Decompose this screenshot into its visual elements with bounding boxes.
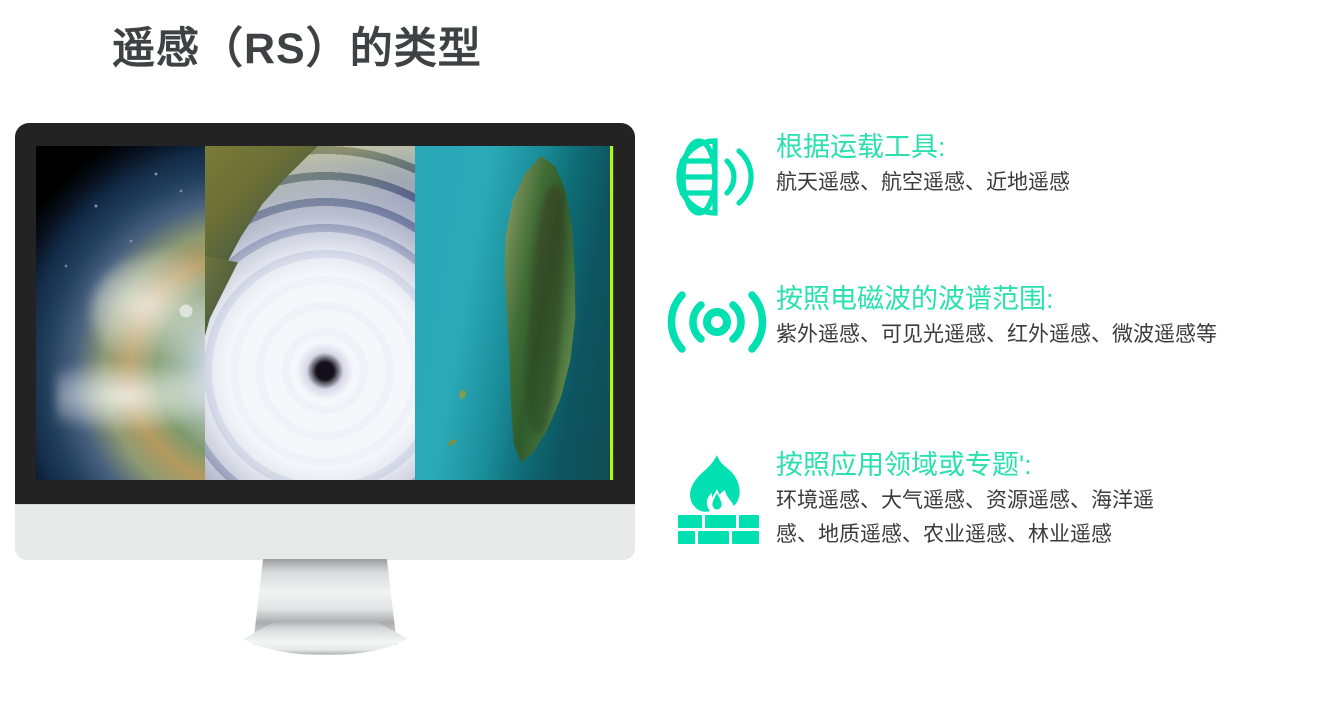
page-title: 遥感（RS）的类型 <box>112 14 482 76</box>
desktop-monitor-illustration <box>15 123 635 655</box>
feature-body-line: 感、地质遥感、农业遥感、林业遥感 <box>776 518 1308 552</box>
feature-body-line: 紫外遥感、可见光遥感、红外遥感、微波遥感等 <box>776 318 1308 352</box>
feature-item-by-platform: 根据运载工具: 航天遥感、航空遥感、近地遥感 <box>658 131 1308 219</box>
feature-body: 航天遥感、航空遥感、近地遥感 <box>776 166 1308 200</box>
globe-signal-icon <box>658 131 776 219</box>
feature-body: 紫外遥感、可见光遥感、红外遥感、微波遥感等 <box>776 318 1308 352</box>
broadcast-signal-icon <box>658 283 776 357</box>
feature-body-line: 航天遥感、航空遥感、近地遥感 <box>776 166 1308 200</box>
feature-heading: 根据运载工具: <box>776 131 1308 164</box>
feature-body: 环境遥感、大气遥感、资源遥感、海洋遥 感、地质遥感、农业遥感、林业遥感 <box>776 484 1308 552</box>
monitor-bezel <box>15 123 635 504</box>
feature-item-by-spectrum: 按照电磁波的波谱范围: 紫外遥感、可见光遥感、红外遥感、微波遥感等 <box>658 283 1308 357</box>
firewall-flame-brick-icon <box>658 449 776 545</box>
monitor-screen <box>36 146 614 480</box>
screen-panel-earth-from-space <box>36 146 205 480</box>
taiwan-islet-north <box>457 389 467 400</box>
feature-heading: 按照电磁波的波谱范围: <box>776 283 1308 316</box>
earth-cloud-band <box>56 361 205 431</box>
hurricane-coastline-secondary <box>205 256 265 336</box>
monitor-chin <box>15 504 635 560</box>
earth-cloud-swirl <box>91 251 205 371</box>
screen-edge-green-line <box>610 146 613 480</box>
feature-text-block: 根据运载工具: 航天遥感、航空遥感、近地遥感 <box>776 131 1308 200</box>
feature-body-line: 环境遥感、大气遥感、资源遥感、海洋遥 <box>776 484 1308 518</box>
feature-text-block: 按照应用领域或专题': 环境遥感、大气遥感、资源遥感、海洋遥 感、地质遥感、农业… <box>776 449 1308 553</box>
screen-panel-taiwan-island <box>415 146 614 480</box>
taiwan-islet-south <box>446 438 457 447</box>
hurricane-eye <box>297 343 353 399</box>
feature-item-by-application: 按照应用领域或专题': 环境遥感、大气遥感、资源遥感、海洋遥 感、地质遥感、农业… <box>658 449 1308 553</box>
feature-heading: 按照应用领域或专题': <box>776 449 1308 482</box>
feature-text-block: 按照电磁波的波谱范围: 紫外遥感、可见光遥感、红外遥感、微波遥感等 <box>776 283 1308 352</box>
screen-panel-hurricane <box>205 146 415 480</box>
